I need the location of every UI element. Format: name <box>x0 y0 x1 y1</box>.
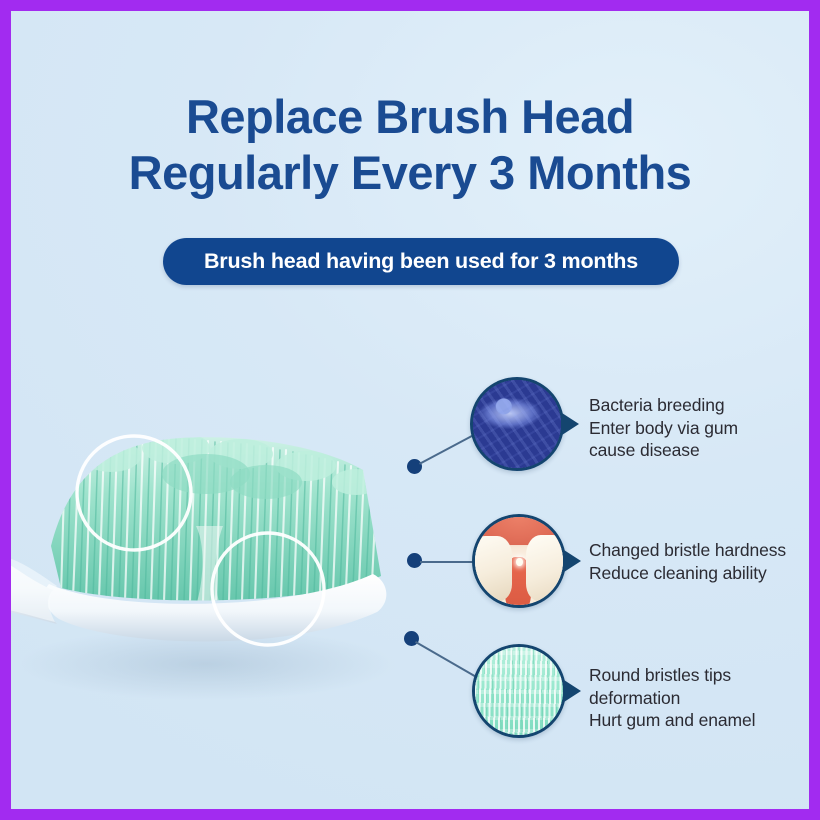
callout-3-line-2: deformation <box>589 687 755 710</box>
connector-line-2 <box>420 561 475 563</box>
callout-1-line-2: Enter body via gum <box>589 417 738 440</box>
callout-3-line-3: Hurt gum and enamel <box>589 709 755 732</box>
headline-line-2: Regularly Every 3 Months <box>11 145 809 201</box>
callout-1-line-1: Bacteria breeding <box>589 394 738 417</box>
callout-2-line-1: Changed bristle hardness <box>589 539 786 562</box>
poster-frame: Replace Brush Head Regularly Every 3 Mon… <box>0 0 820 820</box>
bacteria-microscopy-circle <box>470 377 564 471</box>
callout-3-line-1: Round bristles tips <box>589 664 755 687</box>
toothbrush-illustration <box>0 396 421 741</box>
callout-1-text: Bacteria breeding Enter body via gum cau… <box>589 394 738 462</box>
page-title: Replace Brush Head Regularly Every 3 Mon… <box>11 89 809 201</box>
bristle-tips-macro-circle <box>472 644 566 738</box>
callout-pointer-2 <box>564 550 581 572</box>
callout-2-line-2: Reduce cleaning ability <box>589 562 786 585</box>
callout-pointer-1 <box>562 413 579 435</box>
toothbrush-svg <box>0 396 421 741</box>
callout-3-text: Round bristles tips deformation Hurt gum… <box>589 664 755 732</box>
status-badge: Brush head having been used for 3 months <box>163 238 679 285</box>
status-badge-label: Brush head having been used for 3 months <box>204 249 638 274</box>
callout-2-text: Changed bristle hardness Reduce cleaning… <box>589 539 786 584</box>
headline-line-1: Replace Brush Head <box>186 90 634 143</box>
callout-pointer-3 <box>564 680 581 702</box>
teeth-gum-closeup-circle <box>472 514 566 608</box>
callout-1-line-3: cause disease <box>589 439 738 462</box>
